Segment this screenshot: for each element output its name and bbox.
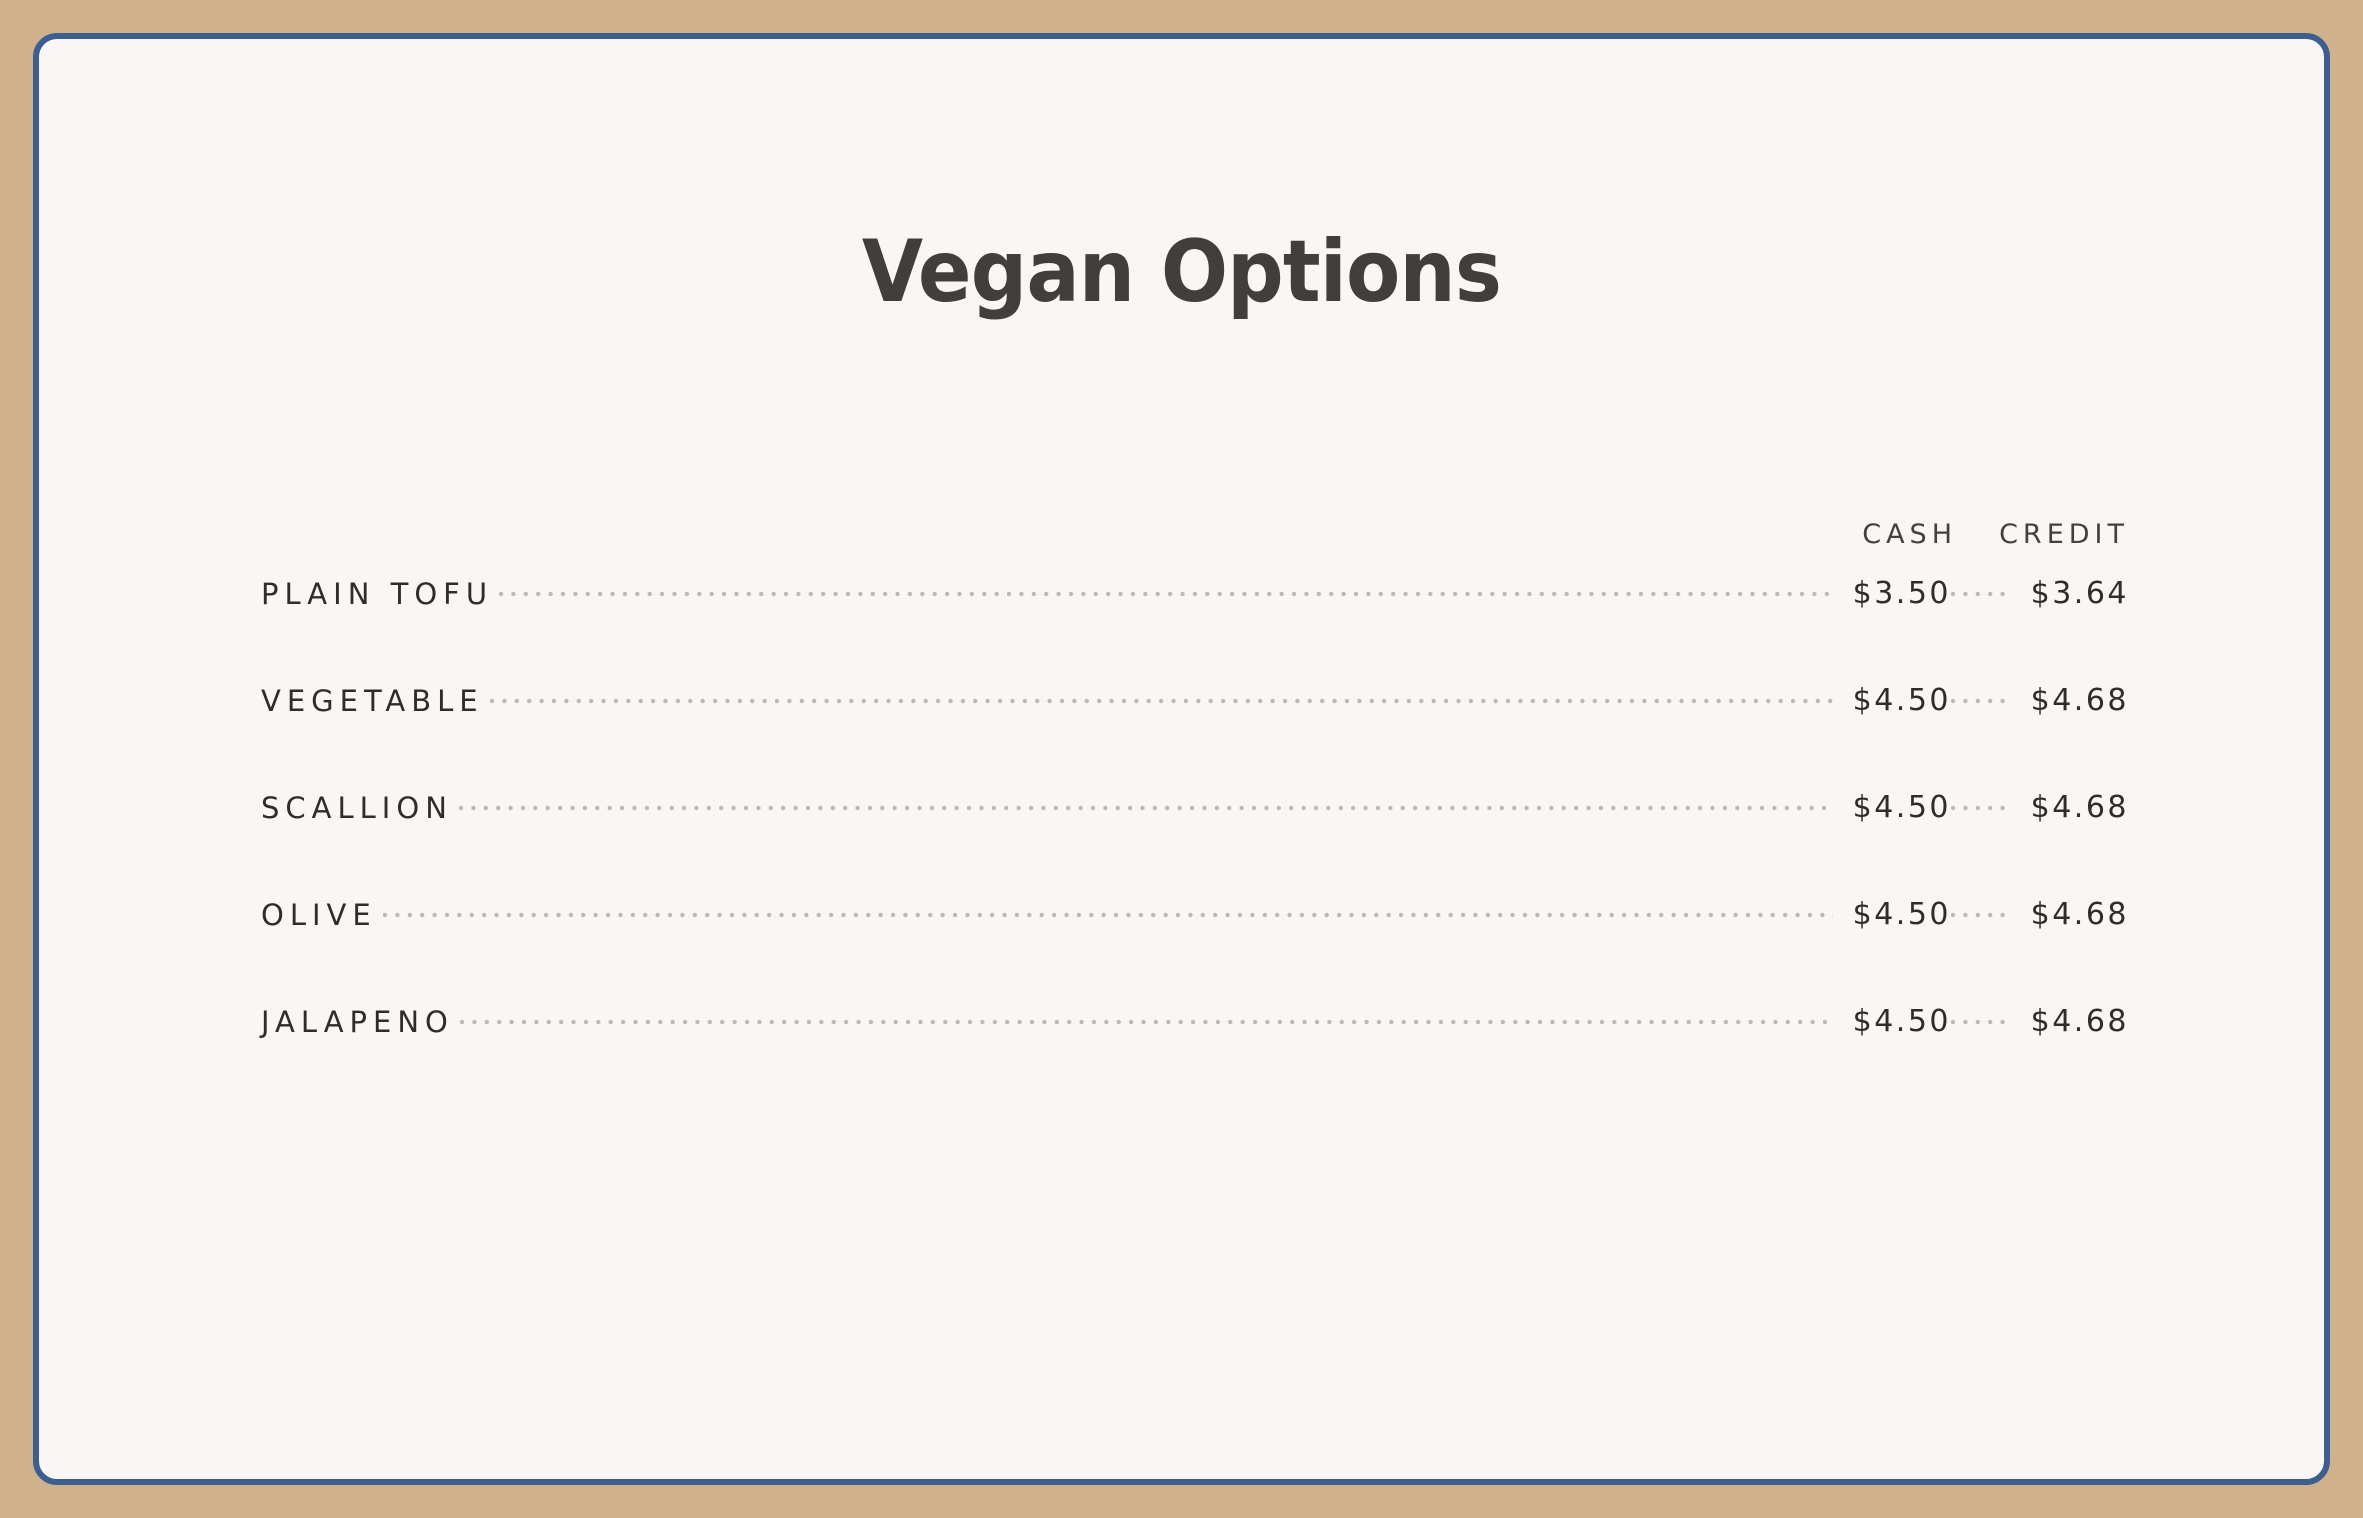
menu-row: SCALLION $4.50 $4.68 xyxy=(261,764,2129,871)
menu-row: JALAPENO $4.50 $4.68 xyxy=(261,978,2129,1085)
menu-item-name: JALAPENO xyxy=(261,1005,460,1039)
menu-item-cash-price: $4.50 xyxy=(1833,897,1951,932)
dotted-leader xyxy=(499,581,1833,607)
menu-item-credit-price: $3.64 xyxy=(2005,576,2129,611)
menu-row: OLIVE $4.50 $4.68 xyxy=(261,871,2129,978)
menu-item-cash-price: $4.50 xyxy=(1833,1004,1951,1039)
dotted-leader xyxy=(1951,1009,2005,1035)
menu-item-cash-price: $4.50 xyxy=(1833,683,1951,718)
dotted-leader xyxy=(1951,688,2005,714)
menu-item-credit-price: $4.68 xyxy=(2005,1004,2129,1039)
column-header-credit: CREDIT xyxy=(1999,519,2129,550)
menu-item-cash-price: $3.50 xyxy=(1833,576,1951,611)
menu-row: PLAIN TOFU $3.50 $3.64 xyxy=(261,550,2129,657)
menu-list: CASH CREDIT PLAIN TOFU $3.50 $3.64 VEGET… xyxy=(261,494,2129,1085)
menu-item-name: OLIVE xyxy=(261,898,383,932)
dotted-leader xyxy=(1951,795,2005,821)
column-header-cash: CASH xyxy=(1862,519,1957,550)
menu-item-credit-price: $4.68 xyxy=(2005,897,2129,932)
column-header-row: CASH CREDIT xyxy=(261,494,2129,550)
dotted-leader xyxy=(490,688,1833,714)
menu-item-name: SCALLION xyxy=(261,791,459,825)
menu-item-name: PLAIN TOFU xyxy=(261,577,499,611)
page-title: Vegan Options xyxy=(130,229,2232,315)
menu-item-cash-price: $4.50 xyxy=(1833,790,1951,825)
menu-item-credit-price: $4.68 xyxy=(2005,790,2129,825)
dotted-leader xyxy=(1951,902,2005,928)
dotted-leader xyxy=(1951,581,2005,607)
menu-item-name: VEGETABLE xyxy=(261,684,490,718)
dotted-leader xyxy=(383,902,1833,928)
dotted-leader xyxy=(460,1009,1833,1035)
dotted-leader xyxy=(459,795,1833,821)
menu-item-credit-price: $4.68 xyxy=(2005,683,2129,718)
menu-row: VEGETABLE $4.50 $4.68 xyxy=(261,657,2129,764)
menu-page: Vegan Options CASH CREDIT PLAIN TOFU $3.… xyxy=(0,0,2363,1518)
menu-card: Vegan Options CASH CREDIT PLAIN TOFU $3.… xyxy=(33,33,2330,1485)
